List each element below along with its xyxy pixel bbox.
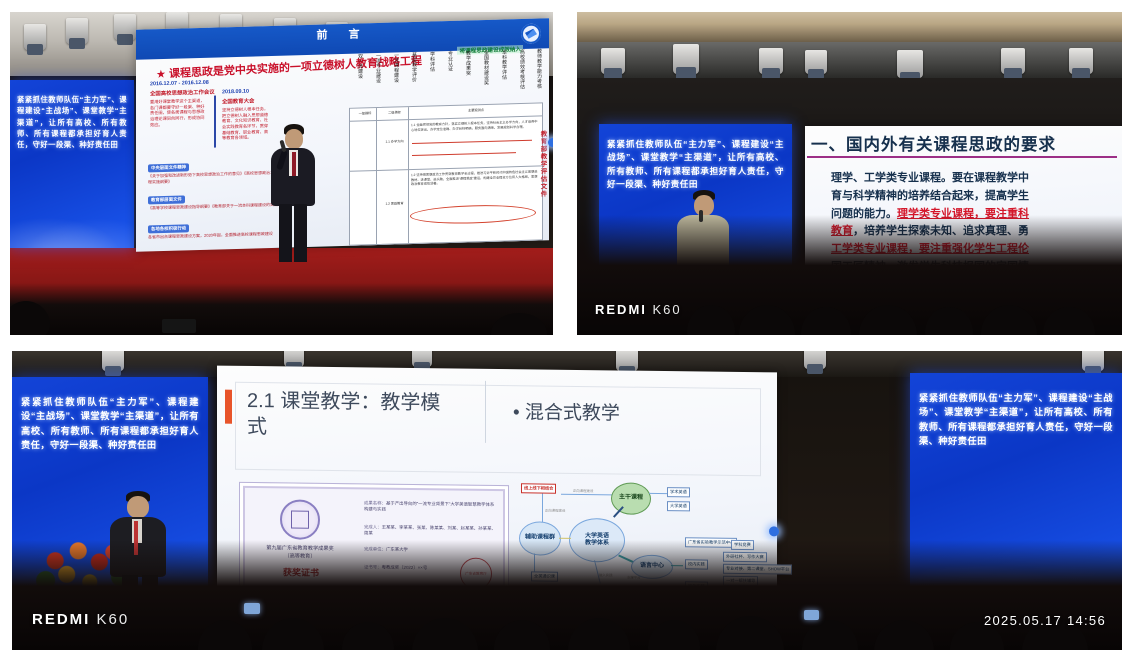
redmi-brand: REDMI [32, 611, 90, 628]
certificate-emblem-icon [280, 499, 320, 539]
stage-light-icon [804, 351, 826, 369]
redmi-watermark: REDMI K60 [32, 611, 129, 628]
blue-tag-2: 各地各校积极行动 [148, 224, 189, 233]
table-row-0-content: 1.1 全面贯彻党的教育方针，落实立德树人根本任务，坚持社会主义办学方向，人才培… [409, 117, 541, 134]
vertical-red-note: 教育部教学评估文件 [538, 130, 547, 198]
slide-body-line-1: 育与科学精神的培养结合起来，提高学生 [831, 188, 1121, 206]
column-header-9: 高校绩效考核评估 [513, 49, 524, 89]
led-status-dot-icon [769, 526, 779, 536]
column-header-3: 基层教学评价 [405, 52, 416, 82]
audience-silhouette [12, 540, 1122, 650]
stage-light-icon [1001, 48, 1025, 74]
stage-light-icon [284, 351, 304, 367]
led-slogan-text: 紧紧抓住教师队伍“主力军”、课程建设“主战场”、课堂教学“主渠道”，让所有高校、… [599, 124, 792, 191]
heading-divider [485, 381, 486, 443]
column-header-10: 教师教学能力考核 [530, 48, 541, 88]
phone-screen-glow [244, 603, 260, 614]
mindmap-tag-0: 线上线下相结合 [521, 483, 556, 493]
phone-screen-glow [804, 610, 819, 620]
stage-light-icon [601, 48, 625, 74]
slide-title-rule [807, 156, 1117, 158]
timeline-bar [214, 96, 216, 148]
photo-panel-presenter-preface: 紧紧抓住教师队伍“主力军”、课程建设“主战场”、课堂教学“主渠道”，让所有高校、… [10, 12, 553, 335]
redmi-brand: REDMI [595, 302, 647, 317]
stage-monitor-box [162, 319, 196, 333]
slide-title: 一、国内外有关课程思政的要求 [811, 131, 1056, 155]
column-header-5: 专业认证 [441, 51, 452, 71]
column-header-1: 一流专业建设 [369, 53, 380, 83]
table-col-1-header: 二级指标 [377, 108, 412, 118]
table-row-1-content: 1.2 坚持把思想政治工作贯穿教育教学全过程，推进习近平新时代中国特色社会主义思… [409, 167, 541, 189]
stage-light-icon [1082, 351, 1104, 371]
stage-light-icon [24, 24, 46, 50]
event-2-name: 全国教育大会 [222, 96, 254, 105]
table-row-1-label: 1.2 思政教育 [377, 199, 412, 209]
certificate-field-1: 完成人：王某某、李某某、张某、陈某某、刘某、赵某某、孙某某、周某 [364, 524, 496, 538]
mindmap-link-label-0: 正向课程建设 [573, 488, 593, 493]
mindmap-tag-1: 学术英语 [667, 487, 690, 497]
mindmap-link-label-1: 正向课程建设 [545, 508, 565, 513]
stage-light-icon [66, 18, 88, 44]
assessment-grid: 一级指标 二级指标 主要观测点 1.1 办学方向 1.2 思政教育 1.1 全面… [349, 102, 543, 245]
redmi-model: K60 [653, 302, 682, 317]
table-row-0-label: 1.1 办学方向 [377, 137, 412, 147]
hall-ceiling [577, 12, 1122, 42]
photo-timestamp: 2025.05.17 14:56 [984, 613, 1106, 628]
stage-light-icon [616, 351, 638, 371]
redmi-watermark: REDMI K60 [595, 302, 682, 317]
led-slogan-text: 紧紧抓住教师队伍“主力军”、课程建设“主战场”、课堂教学“主渠道”，让所有高校、… [12, 377, 208, 452]
stage-light-icon [114, 14, 136, 40]
blue-tag-1: 教育部层面文件 [148, 195, 185, 204]
led-slogan-text: 紧紧抓住教师队伍“主力军”、课程建设“主战场”、课堂教学“主渠道”，让所有高校、… [910, 373, 1122, 448]
column-header-7: 全国教材建设奖 [477, 50, 488, 85]
stage-light-icon [759, 48, 783, 74]
photo-panel-requirements: 紧紧抓住教师队伍“主力军”、课程建设“主战场”、课堂教学“主渠道”，让所有高校、… [577, 12, 1122, 335]
stage-light-icon [897, 50, 923, 78]
table-col-0-header: 一级指标 [350, 109, 380, 118]
stage-light-icon [805, 50, 827, 74]
stage-light-icon [412, 351, 432, 367]
university-logo-icon [521, 23, 541, 44]
blue-tag-0: 中央层面文件精神 [148, 163, 189, 172]
projected-slide-preface: 前 言 ★ 课程思政是党中央实施的一项立德树人教育战略工程 2016.12.07… [136, 18, 549, 252]
lighting-truss [577, 42, 1122, 78]
column-header-0: 双一流建设 [351, 53, 362, 78]
led-status-dot-icon [548, 138, 553, 147]
led-wave-graphic [10, 211, 134, 248]
stage-light-icon [673, 44, 699, 74]
event-2-date: 2018.09.10 [222, 89, 249, 96]
assessment-table-block: 将课程思政建设成效纳入 双一流建设 一流专业建设 一流课程建设 基层教学评价 学… [349, 44, 541, 245]
audience-silhouette [10, 283, 553, 335]
highlight-ellipse [410, 204, 536, 226]
slide-heading: 2.1 课堂教学：教学模式 [247, 388, 457, 443]
led-slogan-panel: 紧紧抓住教师队伍“主力军”、课程建设“主战场”、课堂教学“主渠道”，让所有高校、… [10, 80, 134, 248]
heading-accent-bar [225, 390, 232, 424]
column-header-2: 一流课程建设 [387, 52, 398, 82]
event-1-name: 全国高校思想政治工作会议 [150, 88, 215, 98]
slide-body-line-0: 理学、工学类专业课程。要在课程教学中 [831, 170, 1121, 188]
column-header-8: 本科教学评估 [495, 49, 506, 79]
slide-bullet: • 混合式教学 [513, 397, 620, 425]
speaker-figure [263, 124, 321, 262]
certificate-field-0: 成果名称：基于产出导向的“一流专业背景下”大学英语智慧教学体系构建与实践 [364, 500, 496, 514]
redmi-model: K60 [97, 611, 130, 628]
photo-collage: 紧紧抓住教师队伍“主力军”、课程建设“主战场”、课堂教学“主渠道”，让所有高校、… [0, 0, 1148, 669]
column-header-4: 学科评估 [423, 51, 434, 71]
column-header-6: 教学成果奖 [459, 50, 470, 75]
photo-panel-teaching-model: 紧紧抓住教师队伍“主力军”、课程建设“主战场”、课堂教学“主渠道”，让所有高校、… [12, 351, 1122, 650]
stage-light-icon [1069, 48, 1093, 74]
event-1-paragraph: 要用好课堂教学这个主渠道，各门课都要守好一段渠、种好责任田，使各类课程与思想政治… [150, 98, 208, 128]
mindmap-tag-2: 大学英语 [667, 501, 690, 511]
table-col-2-header: 主要观测点 [409, 104, 543, 116]
audience-silhouette [577, 215, 1122, 335]
event-1-date: 2016.12.07 - 2016.12.08 [150, 80, 209, 88]
stage-light-icon [102, 351, 124, 371]
led-slogan-text: 紧紧抓住教师队伍“主力军”、课程建设“主战场”、课堂教学“主渠道”，让所有高校、… [10, 80, 134, 150]
